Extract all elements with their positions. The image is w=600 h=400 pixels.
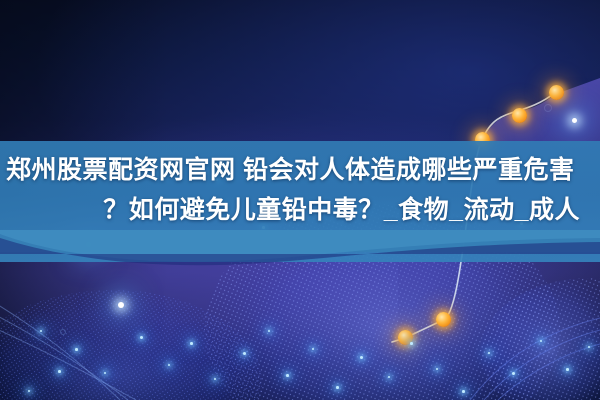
glow-particle [286, 374, 289, 377]
glow-particle [268, 330, 270, 332]
title-line-2: ？如何避免儿童铅中毒？_食物_流动_成人 [6, 190, 594, 230]
page-title: 郑州股票配资网官网 铅会对人体造成哪些严重危害 ？如何避免儿童铅中毒？_食物_流… [0, 150, 600, 255]
banner-image: 郑州股票配资网官网 铅会对人体造成哪些严重危害 ？如何避免儿童铅中毒？_食物_流… [0, 0, 600, 400]
glow-particle [243, 352, 246, 355]
glow-particle [104, 372, 106, 374]
title-line-1: 郑州股票配资网官网 铅会对人体造成哪些严重危害 [6, 150, 594, 190]
glow-particle [488, 352, 490, 354]
glow-particle [436, 368, 438, 370]
glow-particle [360, 356, 363, 359]
glow-particle [118, 302, 124, 308]
glow-particle [410, 342, 413, 345]
glow-particle [512, 372, 515, 375]
glow-particle [168, 364, 170, 366]
glow-particle [462, 390, 465, 393]
glow-particle [214, 378, 216, 380]
glow-particle [190, 342, 193, 345]
glow-particle [336, 386, 339, 389]
glow-particle [28, 390, 30, 392]
glow-particle [140, 336, 143, 339]
glow-particle [312, 348, 314, 350]
glow-particle [40, 330, 42, 332]
glow-particle [388, 376, 390, 378]
glow-particle [540, 340, 542, 342]
glow-particle [572, 118, 577, 123]
glow-particle [75, 348, 78, 351]
glow-particle [58, 370, 61, 373]
glow-particle [588, 346, 590, 348]
glow-particle [566, 368, 569, 371]
